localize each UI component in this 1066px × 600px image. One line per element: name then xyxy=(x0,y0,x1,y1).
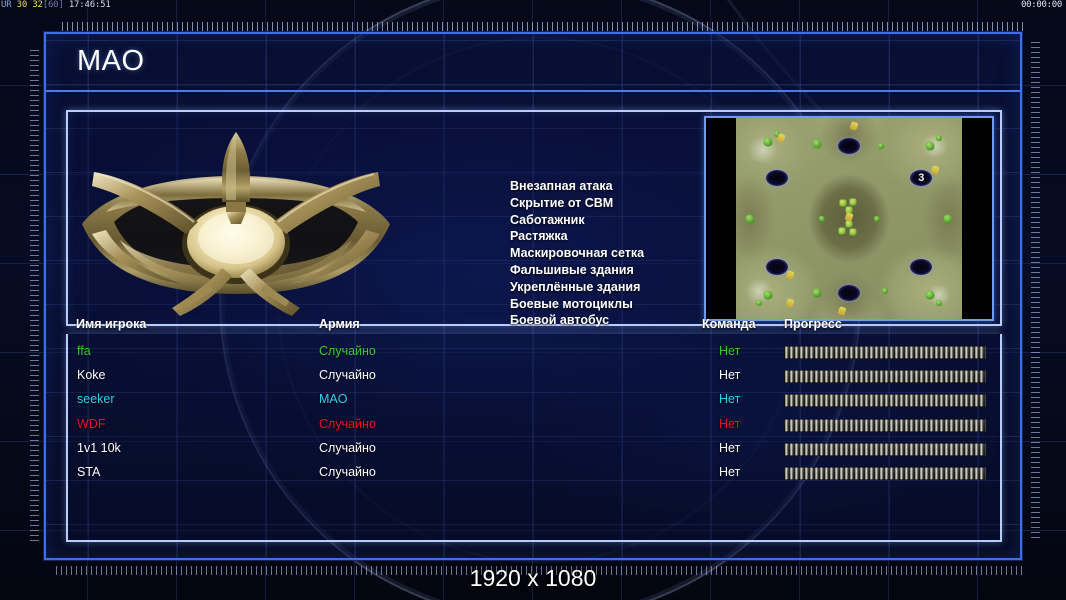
minimap-start-position-3: 3 xyxy=(910,170,932,186)
ruler-left xyxy=(30,50,39,542)
debug-status-bar: UR 30 32[60] 17:46:51 00:00:00 xyxy=(0,0,1066,12)
ability-item: Саботажник xyxy=(510,212,725,229)
page-title: MAO xyxy=(77,45,145,78)
player-name: WDF xyxy=(77,417,105,431)
fps-limit: [60] xyxy=(43,0,64,10)
player-army[interactable]: MAO xyxy=(319,392,347,406)
player-team[interactable]: Нет xyxy=(719,368,740,382)
ability-item: Фальшивые здания xyxy=(510,262,725,279)
player-army[interactable]: Случайно xyxy=(319,465,376,479)
ruler-top xyxy=(62,22,1024,31)
table-row[interactable]: seekerMAOНет xyxy=(68,388,1000,412)
minimap-start-position-5 xyxy=(910,259,932,275)
player-progress-bar xyxy=(784,394,986,407)
resolution-caption: 1920 x 1080 xyxy=(0,565,1066,592)
game-lobby-screen: UR 30 32[60] 17:46:51 00:00:00 MAO xyxy=(0,0,1066,600)
minimap-start-position-2 xyxy=(766,170,788,186)
player-progress-bar xyxy=(784,443,986,456)
fps-prefix: UR xyxy=(1,0,11,10)
player-team[interactable]: Нет xyxy=(719,441,740,455)
column-header-army: Армия xyxy=(319,317,360,331)
player-team[interactable]: Нет xyxy=(719,465,740,479)
player-team[interactable]: Нет xyxy=(719,392,740,406)
table-row[interactable]: STAСлучайноНет xyxy=(68,461,1000,485)
player-name: STA xyxy=(77,465,100,479)
minimap-start-position-4 xyxy=(766,259,788,275)
window-titlebar: MAO xyxy=(46,34,1020,92)
player-progress-bar xyxy=(784,346,986,359)
minimap-start-position-1 xyxy=(838,138,860,154)
player-list-panel: Имя игрока Армия Команда Прогресс ffaСлу… xyxy=(66,334,1002,542)
column-header-name: Имя игрока xyxy=(76,317,146,331)
table-row[interactable]: ffaСлучайноНет xyxy=(68,340,1000,364)
player-name: seeker xyxy=(77,392,115,406)
player-progress-bar xyxy=(784,419,986,432)
faction-emblem-icon xyxy=(76,116,406,321)
match-info-panel: Внезапная атака Скрытие от СВМ Саботажни… xyxy=(66,110,1002,326)
fps-value-secondary: 32 xyxy=(32,0,42,10)
player-name: ffa xyxy=(77,344,91,358)
game-clock: 00:00:00 xyxy=(1021,0,1062,11)
ruler-right xyxy=(1031,42,1040,542)
minimap-start-position-label: 3 xyxy=(910,170,932,186)
player-army[interactable]: Случайно xyxy=(319,441,376,455)
table-row[interactable]: 1v1 10kСлучайноНет xyxy=(68,437,1000,461)
fps-value: 30 xyxy=(17,0,27,10)
minimap-center-resources xyxy=(812,191,886,247)
player-army[interactable]: Случайно xyxy=(319,344,376,358)
ability-item: Скрытие от СВМ xyxy=(510,195,725,212)
ability-item: Внезапная атака xyxy=(510,178,725,195)
player-list-header: Имя игрока Армия Команда Прогресс xyxy=(68,306,1000,334)
ability-item: Растяжка xyxy=(510,228,725,245)
table-row[interactable]: WDFСлучайноНет xyxy=(68,413,1000,437)
session-timer: 17:46:51 xyxy=(69,0,111,10)
minimap-start-position-6 xyxy=(838,285,860,301)
player-team[interactable]: Нет xyxy=(719,417,740,431)
player-progress-bar xyxy=(784,467,986,480)
lobby-window: MAO xyxy=(44,32,1022,560)
ability-item: Маскировочная сетка xyxy=(510,245,725,262)
player-progress-bar xyxy=(784,370,986,383)
minimap-preview[interactable]: 3 xyxy=(704,116,994,321)
player-army[interactable]: Случайно xyxy=(319,417,376,431)
ability-item: Укреплённые здания xyxy=(510,279,725,296)
fps-counter: UR 30 32[60] 17:46:51 xyxy=(1,0,111,11)
player-name: Koke xyxy=(77,368,106,382)
player-name: 1v1 10k xyxy=(77,441,121,455)
player-army[interactable]: Случайно xyxy=(319,368,376,382)
player-team[interactable]: Нет xyxy=(719,344,740,358)
column-header-team: Команда xyxy=(702,317,756,331)
column-header-progress: Прогресс xyxy=(784,317,842,331)
minimap-terrain: 3 xyxy=(736,118,962,319)
table-row[interactable]: KokeСлучайноНет xyxy=(68,364,1000,388)
